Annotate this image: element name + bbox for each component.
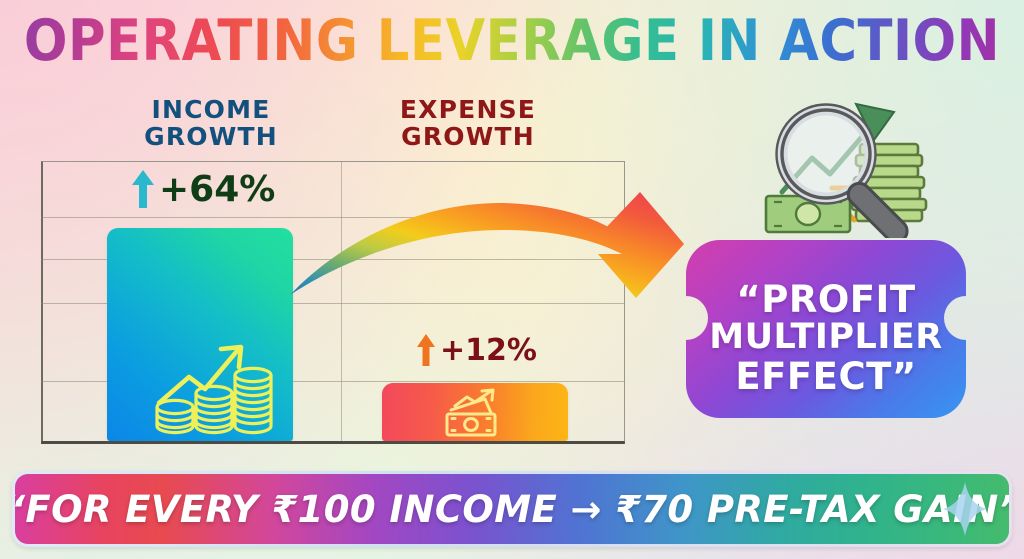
expense-growth-caption: EXPENSE GROWTH [368,96,568,150]
curved-arrow-right-icon [288,178,688,313]
banknote-chart-icon [433,388,517,438]
sparkle-icon [943,482,987,536]
x-axis-line [41,441,625,444]
income-caption-line1: INCOME [112,96,310,123]
arrow-up-icon [130,168,156,210]
income-delta-label: +64% [130,168,275,210]
badge-line3: EFFECT” [735,357,916,397]
banner-text: “FOR EVERY ₹100 INCOME → ₹70 PRE-TAX GAI… [15,488,1009,531]
expense-caption-line2: GROWTH [368,123,568,150]
infographic-canvas: OPERATING LEVERAGE IN ACTION INCOME GROW… [0,0,1024,559]
bar-expense-growth[interactable] [382,383,568,441]
badge-line2: MULTIPLIER [709,319,943,356]
expense-delta-label: +12% [415,332,537,368]
bottom-banner[interactable]: “FOR EVERY ₹100 INCOME → ₹70 PRE-TAX GAI… [12,471,1012,547]
coins-growth-icon [151,329,279,435]
expense-delta-value: +12% [440,333,537,368]
page-title: OPERATING LEVERAGE IN ACTION [0,8,1024,74]
banner-inner: “FOR EVERY ₹100 INCOME → ₹70 PRE-TAX GAI… [15,474,1009,544]
expense-caption-line1: EXPENSE [368,96,568,123]
badge-text: “PROFIT MULTIPLIER EFFECT” [676,234,976,442]
profit-multiplier-badge[interactable]: “PROFIT MULTIPLIER EFFECT” [676,234,976,442]
arrow-up-icon [415,332,437,368]
badge-line1: “PROFIT [736,280,915,320]
income-growth-caption: INCOME GROWTH [112,96,310,150]
income-delta-value: +64% [159,169,275,210]
bar-income-growth[interactable] [107,228,293,441]
income-caption-line2: GROWTH [112,123,310,150]
magnifier-money-analysis-icon [752,96,970,238]
